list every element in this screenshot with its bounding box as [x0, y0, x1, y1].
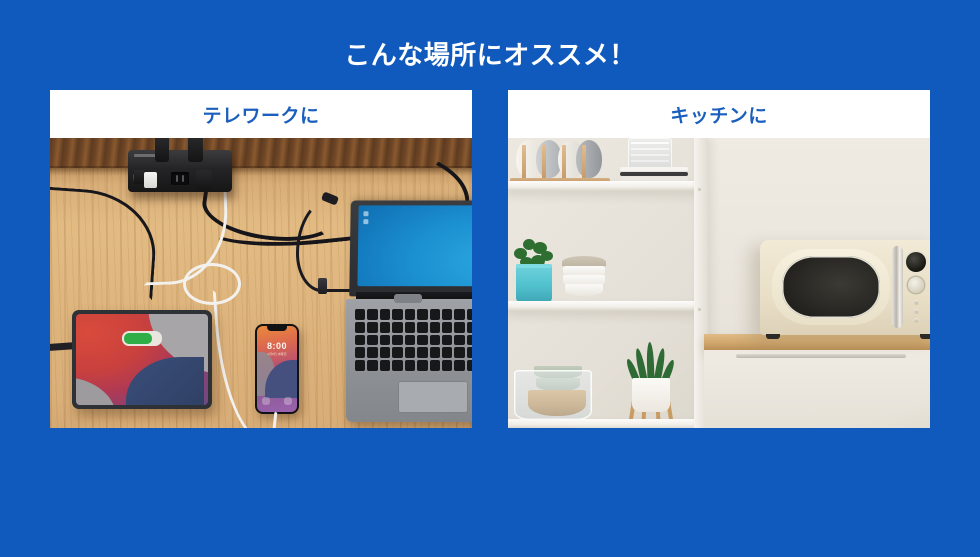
rack-post: [542, 145, 546, 179]
laptop-lid: [349, 200, 472, 296]
dish-rack: [510, 140, 610, 184]
microwave-foot: [920, 334, 930, 339]
keyboard-key: [367, 309, 377, 320]
keyboard-key: [417, 335, 427, 346]
keyboard-key: [355, 347, 365, 358]
card-header-kitchen: キッチンに: [508, 90, 930, 138]
glass-bowl: [514, 370, 592, 420]
shelf-board-bottom: [508, 419, 700, 428]
keyboard-key: [430, 347, 440, 358]
keyboard-key: [454, 335, 464, 346]
keyboard-key: [392, 347, 402, 358]
smartphone: 8:00 4月8日 水曜日: [255, 324, 299, 414]
microwave-indicator-dot: [914, 309, 919, 314]
shelf-board-middle: [508, 301, 700, 311]
white-plant-pot: [632, 378, 670, 412]
shelf-screw: [698, 188, 701, 191]
keyboard-key: [380, 322, 390, 333]
microwave-indicator-dot: [914, 318, 919, 323]
card-kitchen: キッチンに: [508, 90, 930, 428]
plate-upright: [576, 140, 602, 178]
microwave-control-panel: [898, 246, 930, 330]
page-title: こんな場所にオススメ！: [0, 38, 980, 72]
rack-post: [562, 145, 566, 179]
plate-layer: [620, 172, 688, 176]
laptop: [346, 200, 472, 422]
keyboard-key: [367, 335, 377, 346]
keyboard-key: [454, 309, 464, 320]
plate-layer: [620, 167, 688, 171]
keyboard-key: [467, 347, 472, 358]
keyboard-key: [355, 322, 365, 333]
battery-fill: [124, 333, 152, 344]
keyboard-key: [380, 335, 390, 346]
keyboard-key: [417, 360, 427, 371]
tablet-screen: [76, 314, 208, 405]
keyboard-key: [405, 309, 415, 320]
keyboard-key: [417, 322, 427, 333]
keyboard-key: [430, 309, 440, 320]
keyboard-key: [430, 322, 440, 333]
keyboard-key: [454, 322, 464, 333]
keyboard-key: [355, 360, 365, 371]
tablet: [72, 310, 212, 409]
keyboard-key: [430, 360, 440, 371]
keyboard-key: [405, 335, 415, 346]
laptop-screen: [357, 205, 472, 286]
shelf-unit: [508, 138, 708, 428]
keyboard-key: [442, 322, 452, 333]
keyboard-key: [380, 360, 390, 371]
keyboard-key: [467, 309, 472, 320]
card-title-kitchen: キッチンに: [670, 101, 768, 128]
microwave-timer-dial: [908, 277, 924, 293]
laptop-latch: [394, 294, 422, 303]
drawer-handle: [736, 354, 906, 358]
rack-post: [582, 145, 586, 179]
microwave-door: [772, 249, 890, 325]
card-header-telework: テレワークに: [50, 90, 472, 138]
phone-notch: [267, 326, 287, 331]
phone-lockscreen-date: 4月8日 水曜日: [257, 352, 297, 356]
keyboard-key: [355, 309, 365, 320]
keyboard-key: [380, 309, 390, 320]
keyboard-key: [405, 322, 415, 333]
microwave: [760, 240, 930, 335]
power-strip-outlet: [171, 172, 189, 185]
white-bowls-stack: [562, 256, 606, 302]
battery-charging-icon: [122, 331, 162, 346]
keyboard-key: [367, 322, 377, 333]
keyboard-key: [454, 347, 464, 358]
keyboard-key: [367, 360, 377, 371]
black-plug-c: [196, 170, 212, 190]
keyboard-key: [442, 309, 452, 320]
bowl-white: [565, 284, 603, 296]
shelf-board-top: [508, 181, 700, 191]
usb-connector: [318, 278, 327, 294]
keyboard-key: [392, 360, 402, 371]
tablet-wallpaper-shape-blue: [126, 357, 204, 405]
planter-rim: [516, 264, 552, 268]
keyboard-key: [405, 360, 415, 371]
rack-post: [522, 145, 526, 179]
keyboard-key: [467, 322, 472, 333]
glass-tumblers: [628, 138, 672, 170]
phone-flashlight-icon: [262, 397, 270, 405]
keyboard-key: [417, 309, 427, 320]
microwave-power-dial: [906, 252, 926, 272]
microwave-foot: [766, 334, 780, 339]
microwave-indicator-dot: [914, 300, 919, 305]
keyboard-key: [380, 347, 390, 358]
promo-page: こんな場所にオススメ！ テレワークに: [0, 0, 980, 557]
laptop-base: [346, 299, 472, 422]
keyboard-key: [392, 322, 402, 333]
teal-planter: [516, 264, 552, 302]
keyboard-key: [392, 309, 402, 320]
power-strip: [128, 150, 232, 192]
black-plug-b: [188, 138, 203, 162]
desktop-icon-2: [363, 219, 368, 224]
laptop-trackpad: [398, 381, 468, 413]
white-plug: [144, 172, 157, 188]
laptop-keyboard: [355, 309, 472, 371]
keyboard-key: [442, 347, 452, 358]
shelf-screw: [698, 308, 701, 311]
keyboard-key: [442, 335, 452, 346]
smartphone-screen: 8:00 4月8日 水曜日: [257, 326, 297, 412]
keyboard-key: [392, 335, 402, 346]
phone-lockscreen-time: 8:00: [257, 341, 297, 351]
wood-counter: [704, 334, 930, 350]
microwave-window: [782, 256, 880, 318]
tablet-wallpaper-shape-grey2: [76, 377, 116, 405]
keyboard-key: [417, 347, 427, 358]
black-plug-small: [134, 170, 144, 184]
keyboard-key: [430, 335, 440, 346]
card-title-telework: テレワークに: [202, 101, 319, 128]
stacked-plates: [620, 167, 688, 181]
keyboard-key: [442, 360, 452, 371]
keyboard-key: [467, 360, 472, 371]
keyboard-key: [454, 360, 464, 371]
card-telework: テレワークに: [50, 90, 472, 428]
cabinet-front: [704, 350, 930, 428]
telework-desk-photo: 8:00 4月8日 水曜日: [50, 138, 472, 428]
desktop-icon-1: [363, 211, 368, 216]
keyboard-key: [467, 335, 472, 346]
kitchen-shelf-photo: [508, 138, 930, 428]
black-plug-a: [155, 138, 169, 162]
keyboard-key: [367, 347, 377, 358]
keyboard-key: [355, 335, 365, 346]
phone-camera-icon: [284, 397, 292, 405]
keyboard-key: [405, 347, 415, 358]
